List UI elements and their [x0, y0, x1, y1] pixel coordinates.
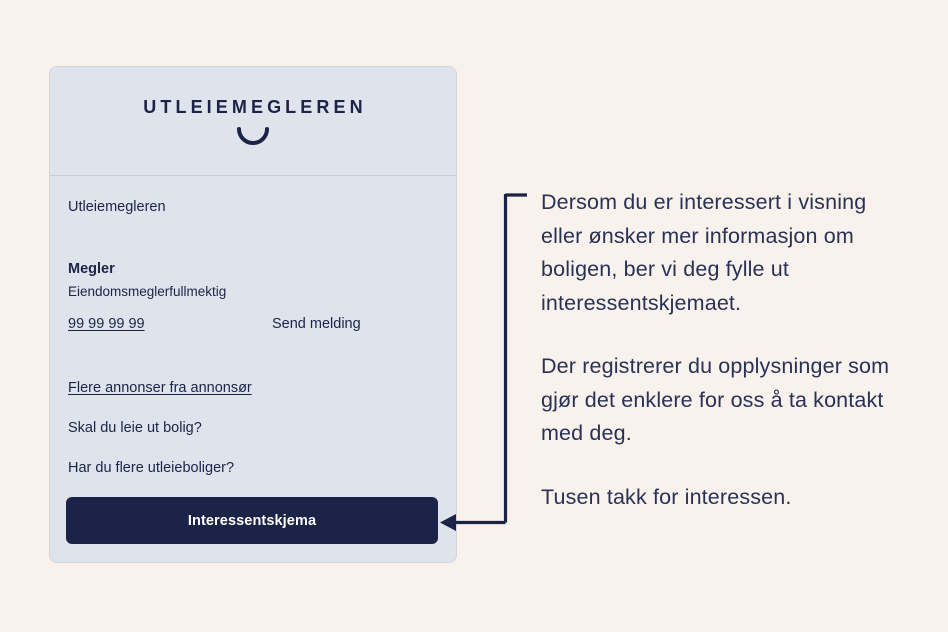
multiple-rentals-link[interactable]: Har du flere utleieboliger?	[68, 460, 234, 476]
smile-arc-icon	[50, 127, 456, 151]
agency-name: Utleiemegleren	[68, 198, 438, 216]
contact-row: 99 99 99 99 Send melding	[68, 315, 438, 333]
list-item: Har du flere utleieboliger?	[68, 459, 438, 477]
send-message-link[interactable]: Send melding	[272, 315, 361, 333]
agent-phone-link[interactable]: 99 99 99 99	[68, 315, 272, 333]
agency-links-list: Flere annonser fra annonsør Skal du leie…	[68, 379, 438, 477]
callout-paragraph-3: Tusen takk for interessen.	[541, 481, 911, 515]
list-item: Flere annonser fra annonsør	[68, 379, 438, 397]
more-ads-from-advertiser-link[interactable]: Flere annonser fra annonsør	[68, 380, 252, 396]
brand-wordmark: UTLEIEMEGLEREN	[50, 97, 456, 118]
rent-out-home-link[interactable]: Skal du leie ut bolig?	[68, 420, 202, 436]
callout-text-block: Dersom du er interessert i visning eller…	[541, 186, 911, 514]
card-header: UTLEIEMEGLEREN	[50, 67, 456, 176]
callout-paragraph-2: Der registrerer du opplysninger som gjør…	[541, 350, 911, 451]
agent-role: Megler	[68, 260, 438, 278]
callout-arrow-icon	[435, 185, 535, 535]
list-item: Skal du leie ut bolig?	[68, 419, 438, 437]
interessentskjema-button[interactable]: Interessentskjema	[66, 497, 438, 544]
card-body: Utleiemegleren Megler Eiendomsmeglerfull…	[50, 176, 456, 477]
agent-contact-card: UTLEIEMEGLEREN Utleiemegleren Megler Eie…	[49, 66, 457, 563]
callout-paragraph-1: Dersom du er interessert i visning eller…	[541, 186, 911, 320]
agent-job-title: Eiendomsmeglerfullmektig	[68, 283, 438, 301]
